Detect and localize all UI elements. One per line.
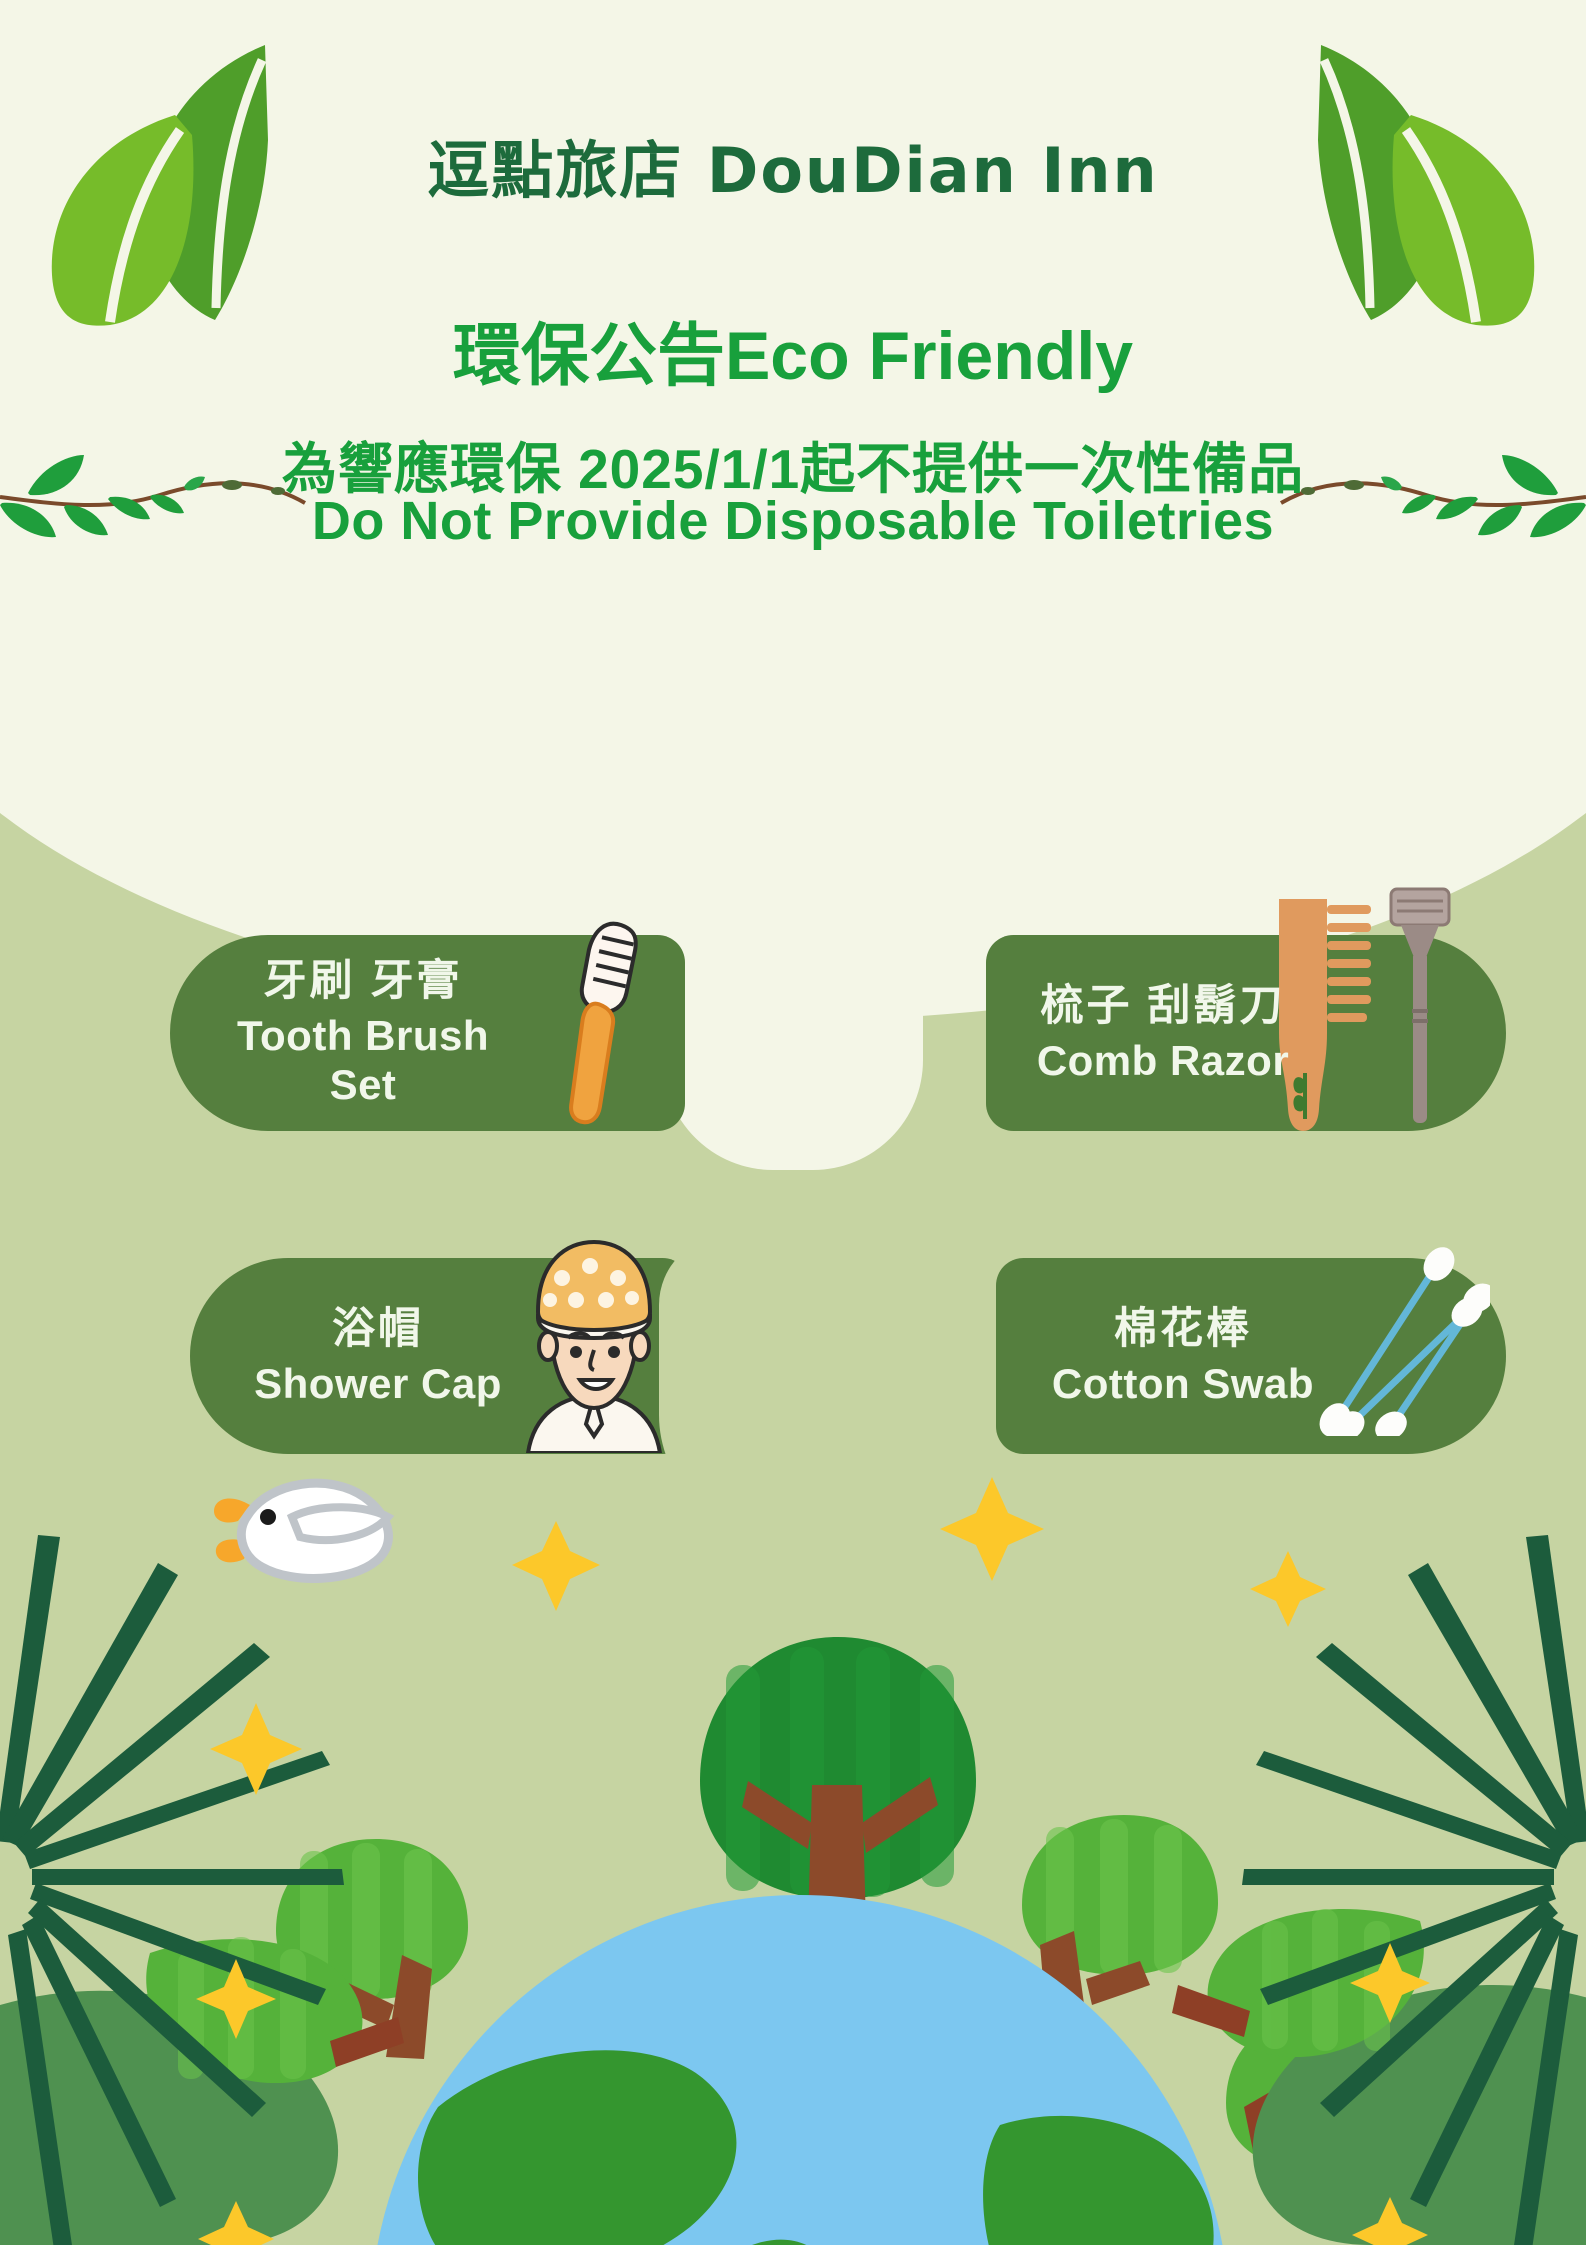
eco-heading: 環保公告Eco Friendly <box>0 300 1586 399</box>
item-label-en: Cotton Swab <box>1018 1359 1348 1409</box>
dove-icon <box>214 1483 389 1578</box>
item-label-en: Comb Razor <box>1008 1036 1318 1086</box>
item-card-labels: 牙刷 牙膏 Tooth Brush Set <box>198 956 528 1110</box>
item-card-tooth-brush[interactable]: 牙刷 牙膏 Tooth Brush Set <box>170 935 685 1131</box>
item-card-comb-razor[interactable]: 梳子 刮鬍刀 Comb Razor <box>986 935 1506 1131</box>
item-label-zh: 棉花棒 <box>1018 1304 1348 1355</box>
item-label-zh: 梳子 刮鬍刀 <box>1008 981 1318 1032</box>
tree-main <box>700 1637 976 1925</box>
brand-title: 逗點旅店 DouDian Inn <box>0 120 1586 210</box>
item-card-labels: 棉花棒 Cotton Swab <box>1018 1304 1348 1408</box>
cream-dip-divider <box>663 880 923 1170</box>
toothbrush-icon <box>505 885 695 1135</box>
notice-text-english: Do Not Provide Disposable Toiletries <box>0 490 1586 552</box>
item-card-labels: 浴帽 Shower Cap <box>218 1304 538 1408</box>
earth-nature-illustration <box>0 1365 1586 2245</box>
item-card-labels: 梳子 刮鬍刀 Comb Razor <box>1008 981 1318 1085</box>
item-label-zh: 牙刷 牙膏 <box>198 956 528 1007</box>
item-label-en: Shower Cap <box>218 1359 538 1409</box>
item-label-zh: 浴帽 <box>218 1304 538 1355</box>
eco-poster: 逗點旅店 DouDian Inn 環保公告Eco Friendl <box>0 0 1586 2245</box>
item-label-en: Tooth Brush Set <box>198 1011 528 1110</box>
